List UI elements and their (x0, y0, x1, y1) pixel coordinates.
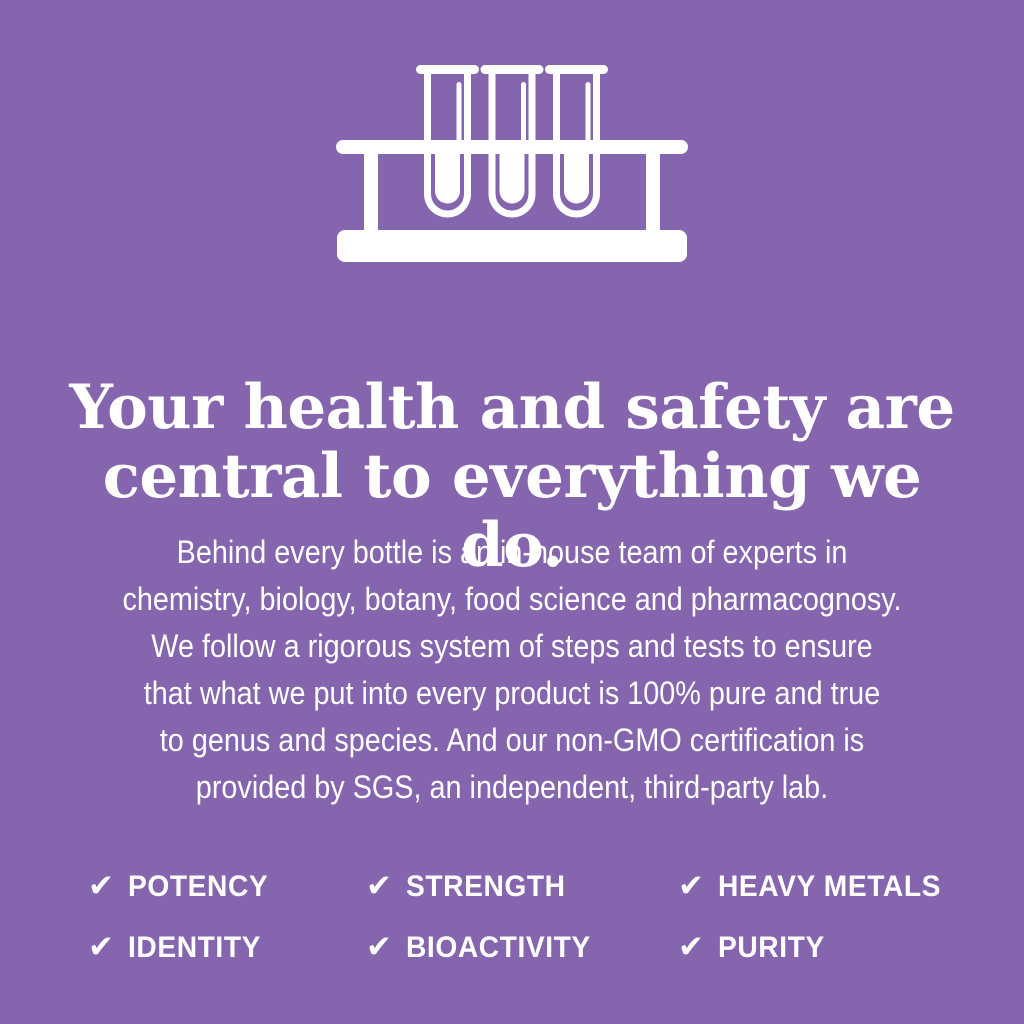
check-icon: ✔ (678, 932, 704, 963)
checklist-item-identity: ✔ IDENTITY (88, 931, 366, 965)
check-icon: ✔ (366, 932, 392, 963)
checklist-item-label: POTENCY (128, 870, 268, 904)
checklist-item-strength: ✔ STRENGTH (366, 870, 678, 904)
checklist-item-label: HEAVY METALS (718, 870, 941, 904)
check-icon: ✔ (678, 871, 704, 902)
check-icon: ✔ (88, 871, 114, 902)
checklist-item-bioactivity: ✔ BIOACTIVITY (366, 931, 678, 965)
promo-poster: Your health and safety are central to ev… (0, 0, 1024, 1024)
body-paragraph: Behind every bottle is an in-house team … (116, 529, 908, 811)
quality-checklist: ✔ POTENCY ✔ STRENGTH ✔ HEAVY METALS ✔ ID… (88, 856, 958, 978)
checklist-item-label: PURITY (718, 931, 825, 965)
checklist-item-purity: ✔ PURITY (678, 931, 958, 965)
check-icon: ✔ (366, 871, 392, 902)
checklist-item-label: BIOACTIVITY (406, 931, 591, 965)
check-icon: ✔ (88, 932, 114, 963)
checklist-item-heavy-metals: ✔ HEAVY METALS (678, 870, 958, 904)
test-tube-rack-icon (0, 62, 1024, 267)
checklist-item-potency: ✔ POTENCY (88, 870, 366, 904)
checklist-item-label: IDENTITY (128, 931, 261, 965)
checklist-item-label: STRENGTH (406, 870, 566, 904)
